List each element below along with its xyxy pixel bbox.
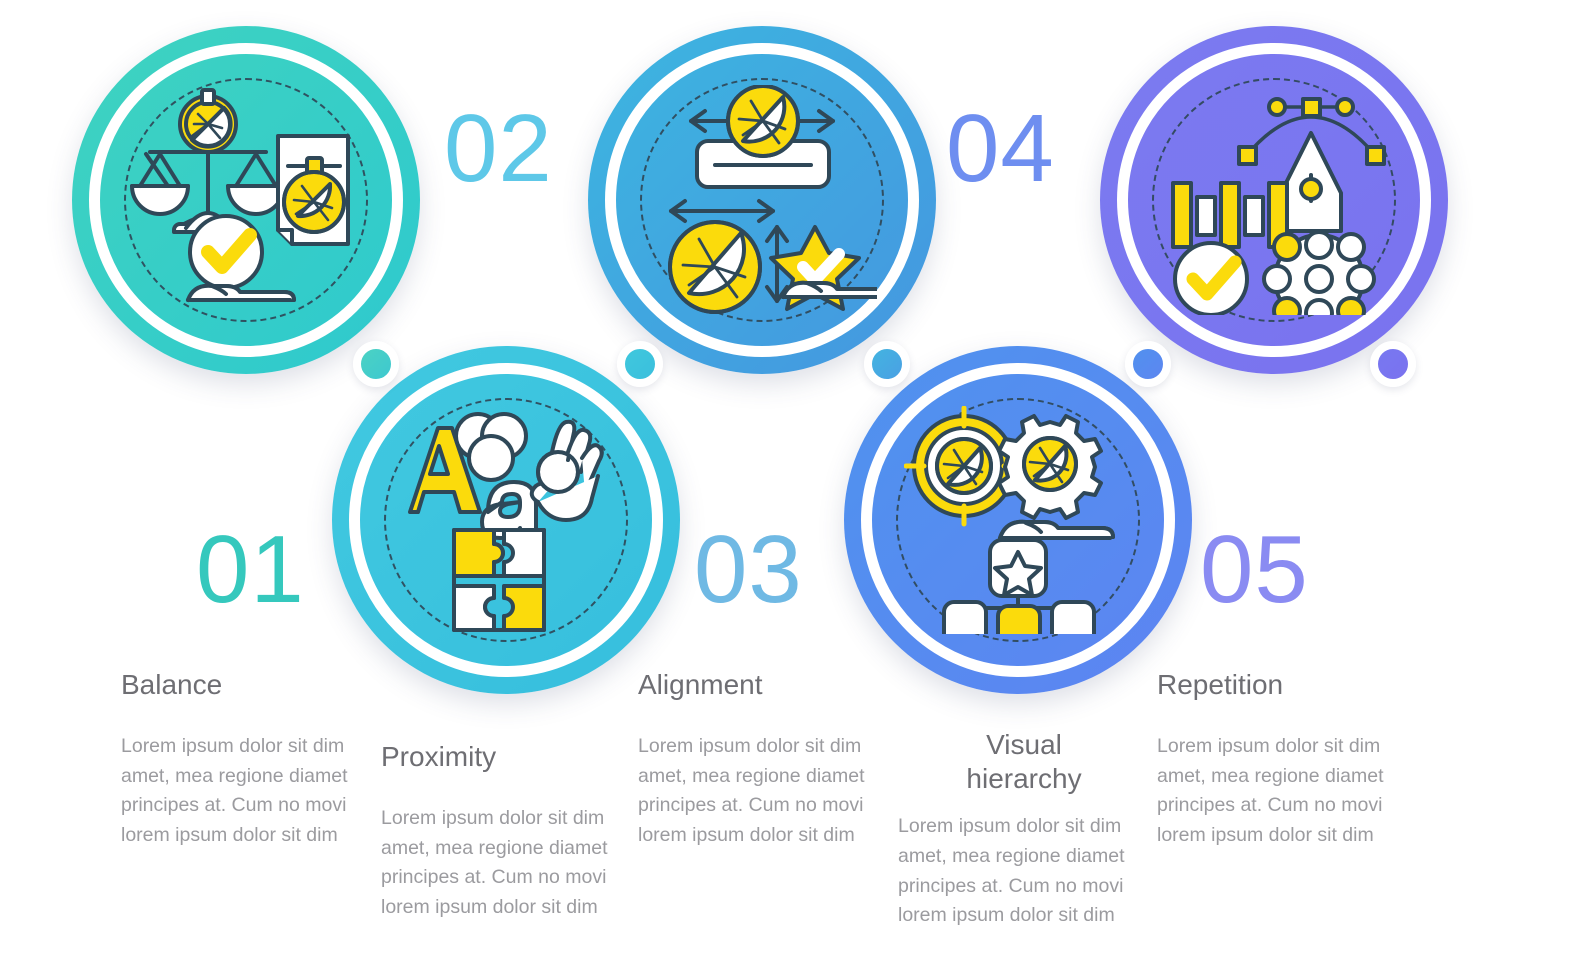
step-circle-alignment[interactable] [588, 26, 936, 374]
typography-puzzle-icon [332, 346, 680, 694]
step-circle-visual-hierarchy[interactable] [844, 346, 1192, 694]
step-text-repetition: Repetition Lorem ipsum dolor sit dim ame… [1157, 668, 1409, 851]
step-number-04: 04 [946, 101, 1055, 197]
scales-balance-icon [72, 26, 420, 374]
step-circle-repetition[interactable] [1100, 26, 1448, 374]
step-label-balance: Balance [121, 668, 373, 702]
pen-tool-pattern-icon [1100, 26, 1448, 374]
step-number-05: 05 [1200, 522, 1309, 618]
step-circle-balance[interactable] [72, 26, 420, 374]
step-text-alignment: Alignment Lorem ipsum dolor sit dim amet… [638, 668, 890, 851]
step-text-proximity: Proximity Lorem ipsum dolor sit dim amet… [381, 740, 633, 923]
connector-dot-5 [1370, 341, 1416, 387]
connector-dot-4 [1125, 341, 1171, 387]
step-label-visual-hierarchy: Visual hierarchy [898, 728, 1150, 796]
step-text-balance: Balance Lorem ipsum dolor sit dim amet, … [121, 668, 373, 851]
step-label-proximity: Proximity [381, 740, 633, 774]
step-text-visual-hierarchy: Visual hierarchy Lorem ipsum dolor sit d… [898, 728, 1150, 931]
connector-dot-1 [353, 341, 399, 387]
step-body-repetition: Lorem ipsum dolor sit dim amet, mea regi… [1157, 732, 1409, 851]
step-label-alignment: Alignment [638, 668, 890, 702]
step-circle-proximity[interactable] [332, 346, 680, 694]
step-number-03: 03 [694, 522, 803, 618]
connector-dot-2 [617, 341, 663, 387]
infographic-canvas: 01 02 03 04 05 Balance Lorem ipsum dolor… [0, 0, 1569, 980]
step-body-proximity: Lorem ipsum dolor sit dim amet, mea regi… [381, 804, 633, 923]
connector-dot-3 [864, 341, 910, 387]
step-body-balance: Lorem ipsum dolor sit dim amet, mea regi… [121, 732, 373, 851]
arrows-alignment-icon [588, 26, 936, 374]
step-body-visual-hierarchy: Lorem ipsum dolor sit dim amet, mea regi… [898, 812, 1150, 931]
target-hierarchy-icon [844, 346, 1192, 694]
step-body-alignment: Lorem ipsum dolor sit dim amet, mea regi… [638, 732, 890, 851]
step-number-01: 01 [196, 522, 305, 618]
step-number-02: 02 [444, 101, 553, 197]
step-label-repetition: Repetition [1157, 668, 1409, 702]
